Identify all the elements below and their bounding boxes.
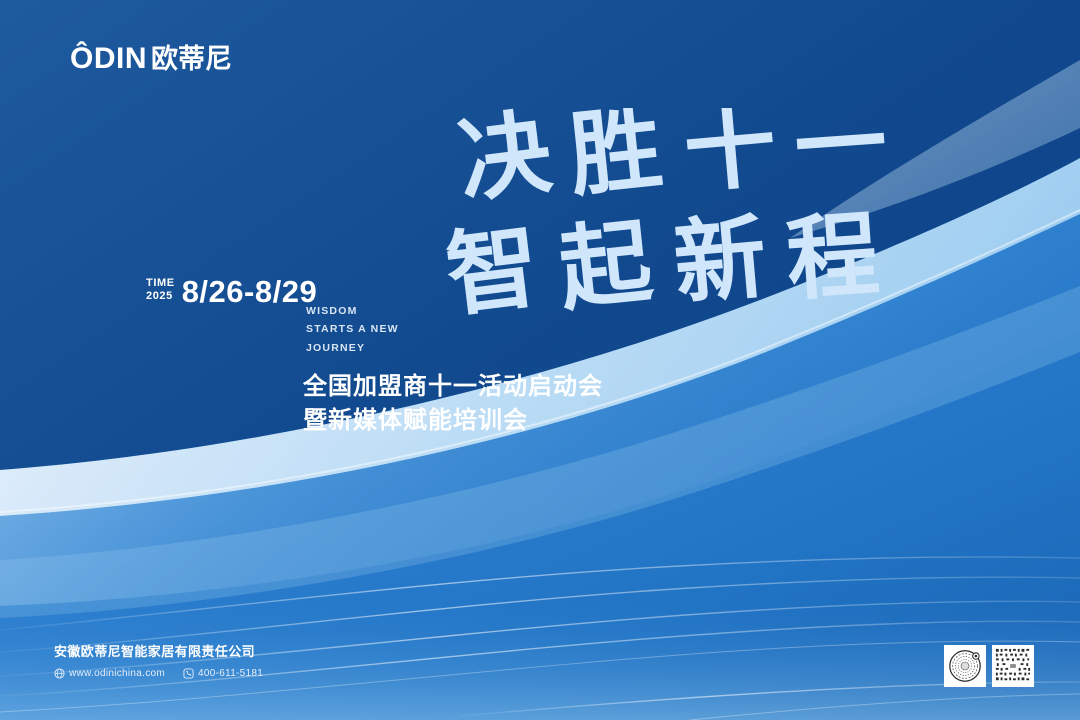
logo-latin-text: ÔDIN <box>70 44 147 74</box>
globe-icon <box>54 668 65 679</box>
company-name: 安徽欧蒂尼智能家居有限责任公司 <box>54 644 263 661</box>
headline-line1-char-1: 决 <box>453 108 557 216</box>
website-item: www.odinichina.com <box>54 668 165 679</box>
time-label: TIME 2025 <box>146 277 175 307</box>
headline-calligraphy: 决 胜 十 一 智 起 新 程 <box>445 108 915 338</box>
headline-line2-char-3: 新 <box>670 202 771 318</box>
contact-row: www.odinichina.com 400-611-5181 <box>54 668 263 679</box>
headline-line1-char-4: 一 <box>791 108 890 202</box>
brand-logo: ÔDIN 欧蒂尼 <box>70 44 232 74</box>
headline-line1-char-3: 十 <box>680 108 781 206</box>
event-subtitle-line2: 暨新媒体赋能培训会 <box>303 404 603 438</box>
english-tagline: WISDOM STARTS A NEW JOURNEY <box>306 302 399 357</box>
footer-block: 安徽欧蒂尼智能家居有限责任公司 www.odinichina.com 400-6… <box>54 644 263 679</box>
event-subtitle: 全国加盟商十一活动启动会 暨新媒体赋能培训会 <box>303 370 603 438</box>
event-subtitle-line1: 全国加盟商十一活动启动会 <box>303 370 603 404</box>
phone-icon <box>183 668 194 679</box>
logo-chinese-text: 欧蒂尼 <box>151 46 232 73</box>
english-tagline-line1: WISDOM <box>306 302 399 320</box>
event-date-range: 8/26-8/29 <box>182 276 318 307</box>
headline-line1-char-2: 胜 <box>564 108 667 210</box>
headline-line2-char-4: 程 <box>783 200 882 314</box>
event-date-block: TIME 2025 8/26-8/29 <box>146 276 317 307</box>
event-poster: ÔDIN 欧蒂尼 决 胜 十 一 智 起 新 程 TIME 2025 8/26-… <box>0 0 1080 720</box>
code-group <box>944 645 1034 687</box>
website-text: www.odinichina.com <box>69 668 165 679</box>
time-label-year: 2025 <box>146 290 175 303</box>
headline-line2-char-1: 智 <box>445 211 545 329</box>
phone-text: 400-611-5181 <box>198 668 263 679</box>
english-tagline-line2: STARTS A NEW <box>306 320 399 338</box>
headline-line2-char-2: 起 <box>554 207 658 324</box>
english-tagline-line3: JOURNEY <box>306 339 399 357</box>
qr-code[interactable] <box>992 645 1034 687</box>
time-label-top: TIME <box>146 277 175 290</box>
phone-item: 400-611-5181 <box>183 668 263 679</box>
wechat-circular-code[interactable] <box>944 645 986 687</box>
